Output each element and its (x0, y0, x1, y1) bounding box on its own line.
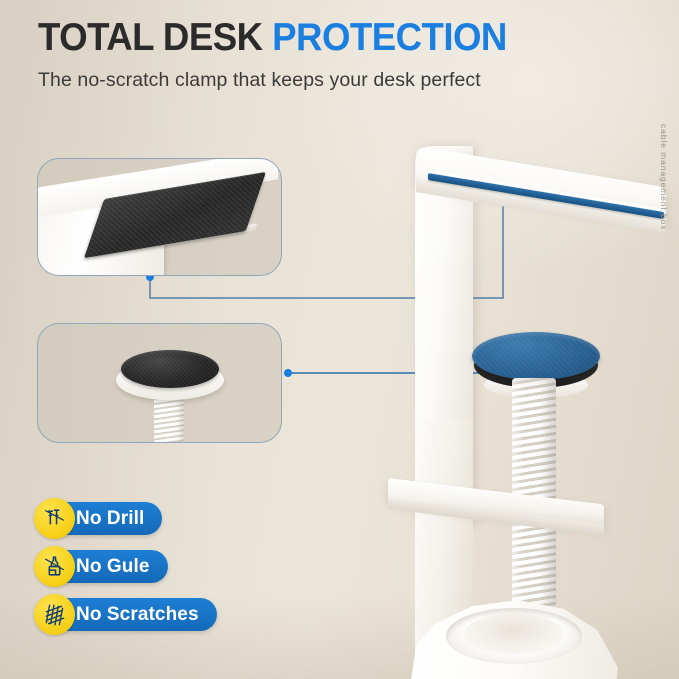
product-threaded-screw (512, 378, 556, 608)
callout-foam-strip (37, 158, 282, 276)
callout-round-pad-image (38, 324, 281, 442)
callout-foam-strip-image (38, 159, 281, 275)
badge-no-drill[interactable]: No Drill (38, 502, 162, 535)
product-photo: cable management box (372, 120, 679, 679)
page-title: TOTAL DESK PROTECTION (38, 16, 611, 60)
callout-round-pad (37, 323, 282, 443)
product-blue-round-pad (472, 332, 600, 380)
badge-label: No Drill (76, 508, 144, 530)
callout-black-round-pad (121, 350, 219, 388)
page-subtitle: The no-scratch clamp that keeps your des… (38, 69, 648, 92)
no-glue-icon (34, 546, 75, 587)
badge-label: No Gule (76, 556, 150, 578)
no-drill-icon (34, 498, 75, 539)
badge-no-glue[interactable]: No Gule (38, 550, 168, 583)
badge-label: No Scratches (76, 604, 199, 626)
header: TOTAL DESK PROTECTION The no-scratch cla… (38, 16, 648, 92)
badge-no-scratches[interactable]: No Scratches (38, 598, 217, 631)
feature-badge-list: No Drill No Gule No Scratches (38, 502, 217, 646)
headline-dark-part: TOTAL DESK (38, 16, 263, 59)
headline-blue-part: PROTECTION (263, 16, 507, 59)
cable-management-label: cable management box (659, 124, 669, 230)
no-scratches-icon (34, 594, 75, 635)
product-knob-ring-inner (464, 614, 564, 654)
